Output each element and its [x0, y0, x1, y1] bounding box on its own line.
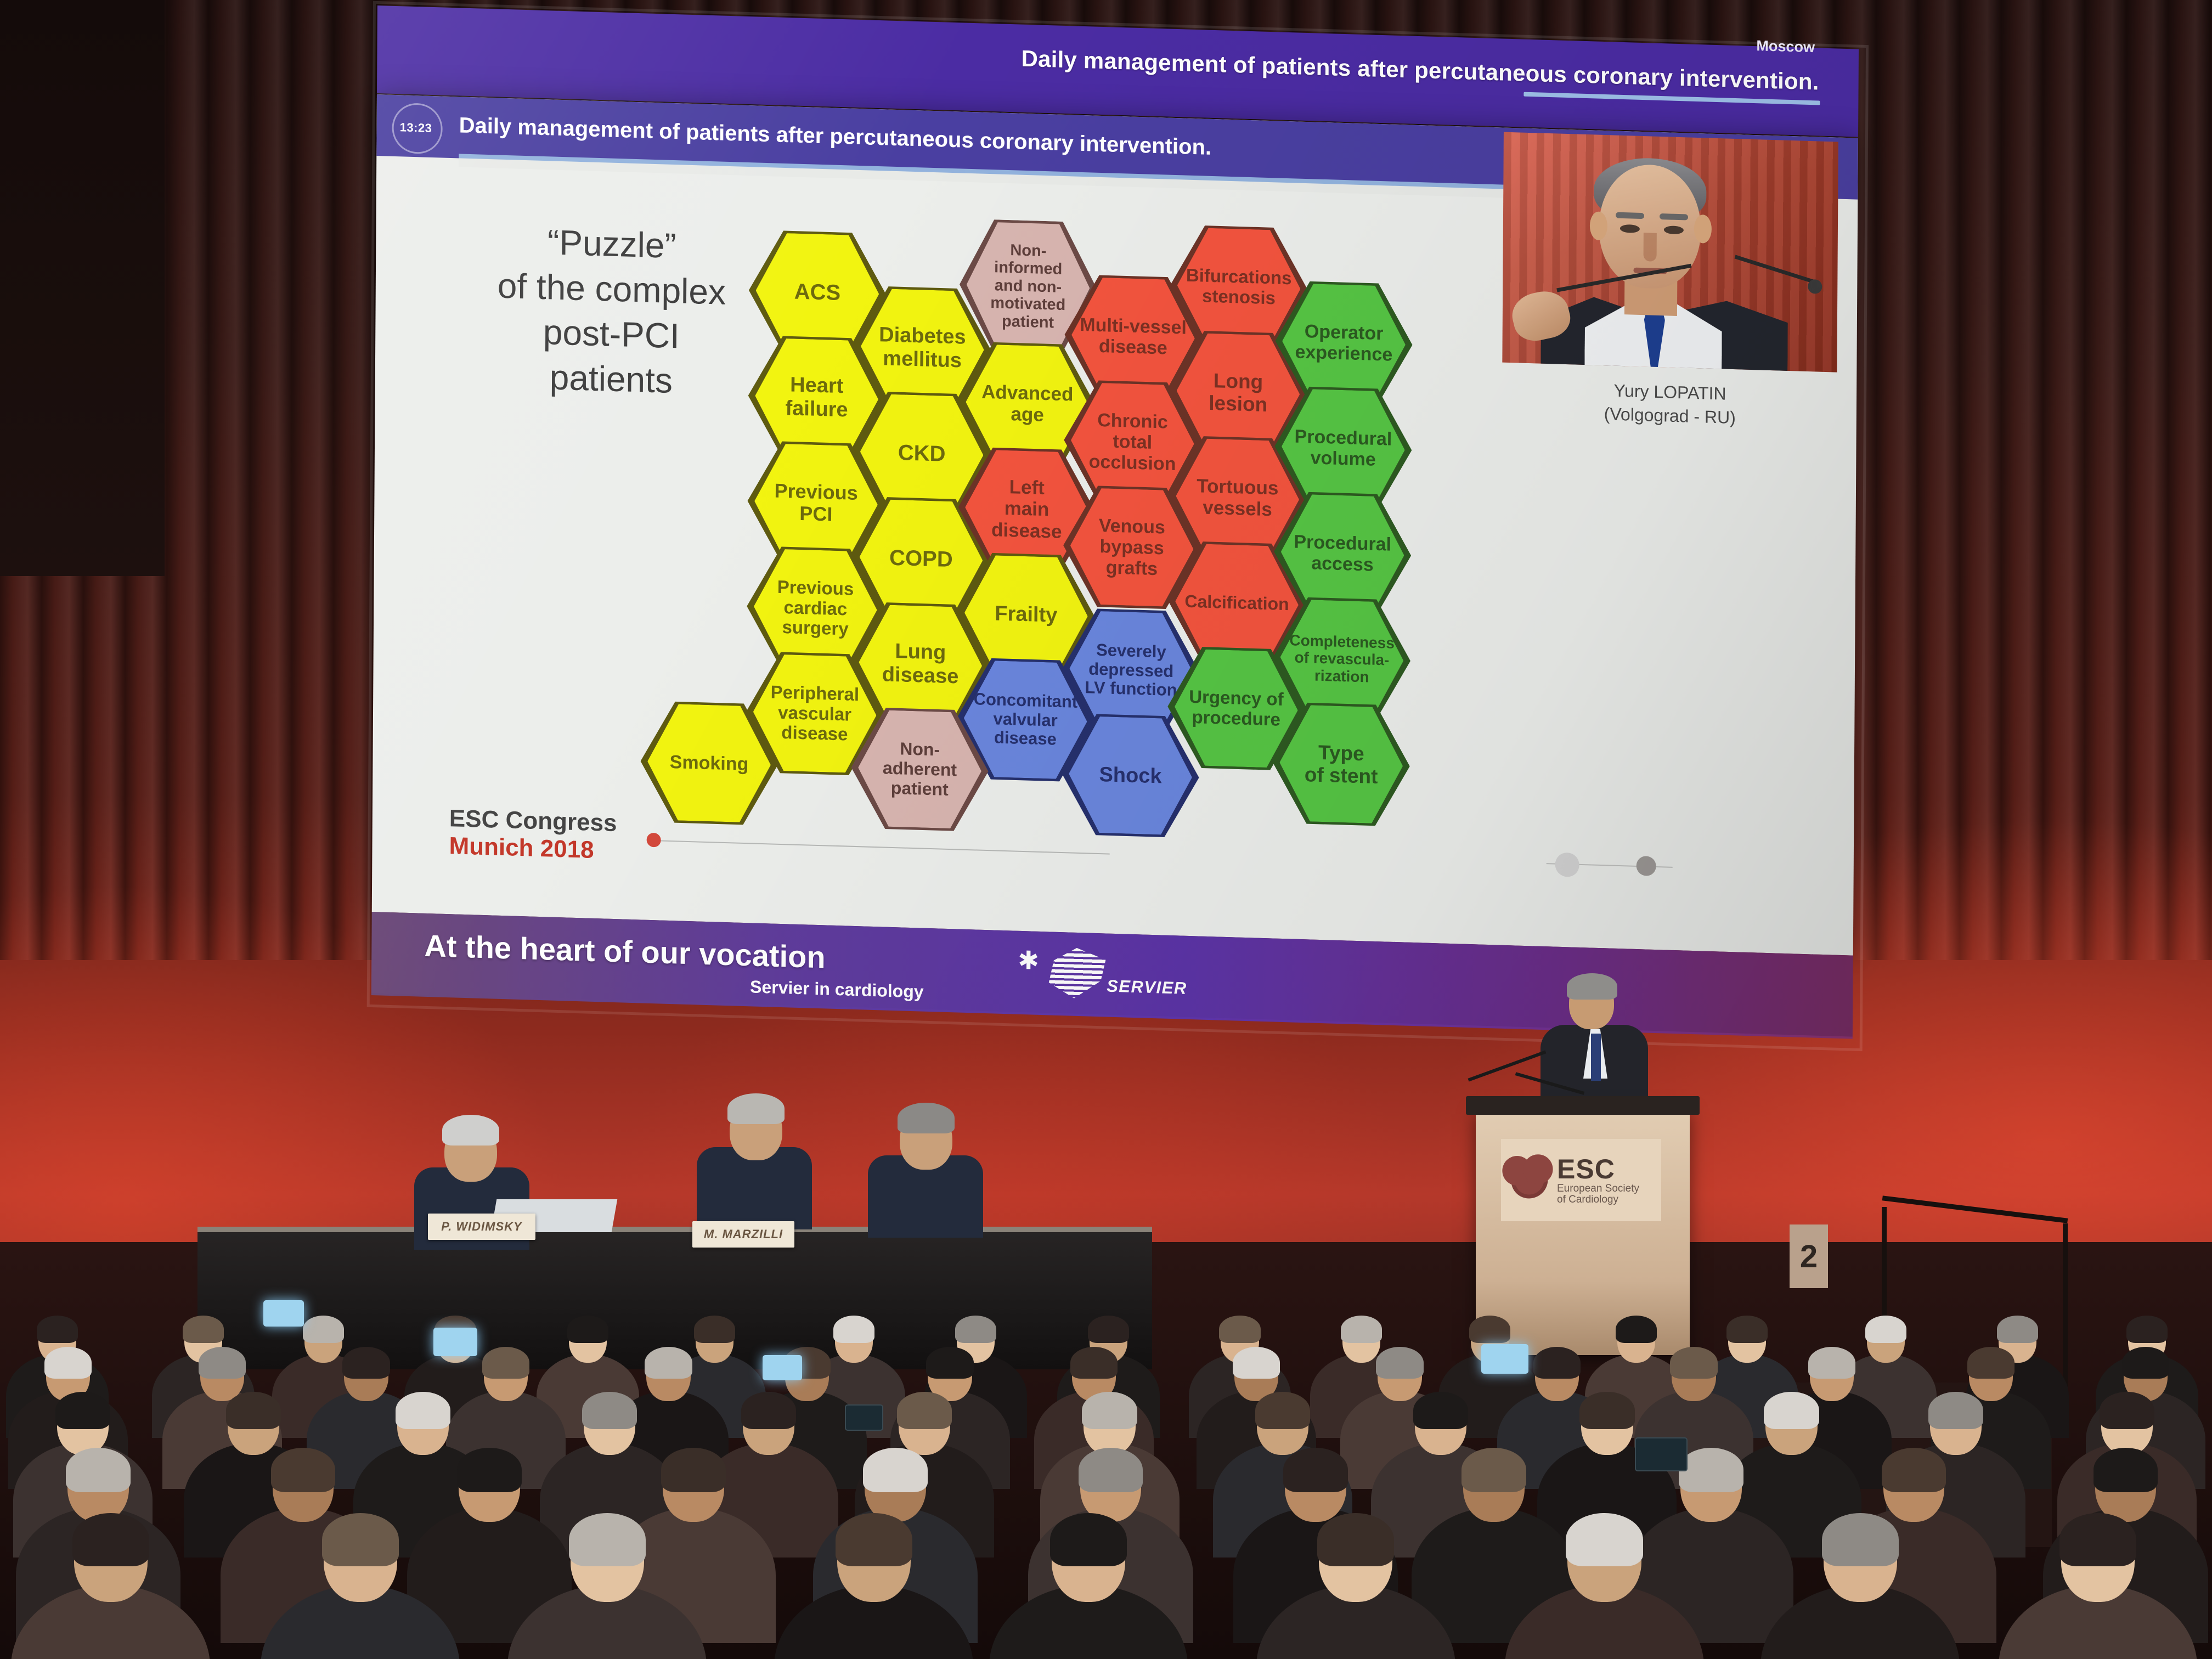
audience-phone-screen [763, 1355, 802, 1380]
puzzle-line-2: of the complex [458, 262, 766, 316]
audience-hair [66, 1448, 130, 1492]
hex-label: Chronic total occlusion [1089, 409, 1176, 475]
audience-phone-screen [1635, 1437, 1688, 1471]
hex-label: Previous PCI [774, 479, 858, 526]
audience-hair [1413, 1392, 1468, 1429]
hex-label: CKD [898, 441, 946, 466]
audience-phone-screen [263, 1300, 304, 1327]
audience-hair [226, 1392, 281, 1429]
audience-hair [1088, 1316, 1129, 1343]
sponsor-tagline: At the heart of our vocation [424, 928, 826, 975]
hex-label: Multi-vessel disease [1080, 314, 1187, 359]
hex-label: Operator experience [1295, 320, 1392, 365]
hex-label: Type of stent [1305, 741, 1378, 788]
audience-hair [1865, 1316, 1906, 1343]
audience-hair [1616, 1316, 1657, 1343]
hex-label: Shock [1099, 763, 1161, 788]
audience-hair [1808, 1347, 1856, 1379]
hex-label: Calcification [1184, 592, 1289, 614]
podium-top-edge [1466, 1096, 1700, 1115]
nameplate-marzilli-text: M. MARZILLI [704, 1227, 783, 1242]
hex-label: Peripheral vascular disease [770, 682, 859, 746]
hex-label: Completeness of revascula- rization [1289, 631, 1395, 686]
audience-hair [582, 1392, 637, 1429]
projection-screen: Moscow Daily management of patients afte… [371, 5, 1859, 1037]
audience-hair [1070, 1347, 1118, 1379]
audience-hair [836, 1513, 912, 1566]
audience-hair [271, 1448, 335, 1492]
speaker-caption: Yury LOPATIN (Volgograd - RU) [1527, 376, 1813, 432]
audience-hair [1928, 1392, 1983, 1429]
audience-hair [2059, 1513, 2136, 1566]
hex-label: Heart failure [785, 374, 848, 422]
nameplate-widimsky-text: P. WIDIMSKY [441, 1220, 522, 1234]
audience-hair [833, 1316, 874, 1343]
audience-hair [661, 1448, 725, 1492]
audience-hair [72, 1513, 149, 1566]
audience-hair [1533, 1347, 1581, 1379]
slide-title: Daily management of patients after percu… [459, 113, 1212, 160]
bay-number-text: 2 [1800, 1238, 1818, 1275]
banner-city-label: Moscow [1756, 37, 1815, 56]
audience-hair [897, 1392, 952, 1429]
sponsor-subline: Servier in cardiology [750, 977, 924, 1002]
audience-hair [1822, 1513, 1899, 1566]
audience-hair [1566, 1513, 1643, 1566]
audience-hair [1579, 1392, 1634, 1429]
audience-hair [396, 1392, 450, 1429]
hex-label: Non- adherent patient [883, 739, 957, 800]
servier-leaf-icon [1045, 947, 1106, 999]
audience-hair [1376, 1347, 1424, 1379]
audience-hair [1317, 1513, 1394, 1566]
congress-name: ESC Congress [449, 805, 617, 837]
servier-wordmark: SERVIER [1107, 977, 1187, 998]
hex-label: ACS [794, 279, 841, 305]
audience-hair [1233, 1347, 1280, 1379]
hex-label: Venous bypass grafts [1098, 515, 1165, 580]
audience-hair [303, 1316, 344, 1343]
audience [0, 1297, 2212, 1659]
audience-hair [44, 1347, 92, 1379]
audience-hair [37, 1316, 78, 1343]
audience-hair [55, 1392, 110, 1429]
audience-hair [569, 1513, 646, 1566]
audience-hair [199, 1347, 246, 1379]
esc-congress-footer: ESC Congress Munich 2018 [449, 805, 617, 865]
hex-label: Smoking [670, 752, 749, 775]
audience-hair [1082, 1392, 1137, 1429]
audience-hair [1679, 1448, 1743, 1492]
audience-hair [567, 1316, 608, 1343]
hex-label: Left main disease [991, 476, 1062, 542]
hex-label: Diabetes mellitus [879, 324, 966, 373]
congress-location-year: Munich 2018 [449, 832, 617, 864]
audience-hair [2100, 1392, 2154, 1429]
footer-grey-dot-2 [1637, 856, 1656, 876]
hex-label: COPD [889, 545, 953, 572]
audience-hair [1469, 1316, 1510, 1343]
audience-hair [482, 1347, 530, 1379]
audience-hair [1726, 1316, 1768, 1343]
audience-hair [2122, 1347, 2170, 1379]
hex-label: Procedural volume [1294, 426, 1392, 470]
nameplate-marzilli: M. MARZILLI [692, 1221, 794, 1248]
audience-hair [2093, 1448, 2158, 1492]
audience-phone-screen [433, 1328, 477, 1356]
esc-podium-logo: ESC European Society of Cardiology [1501, 1139, 1661, 1221]
audience-hair [1050, 1513, 1127, 1566]
audience-hair [322, 1513, 399, 1566]
hex-label: Long lesion [1209, 369, 1267, 416]
audience-hair [1341, 1316, 1382, 1343]
audience-hair [955, 1316, 996, 1343]
hex-label: Procedural access [1294, 531, 1391, 575]
audience-hair [2126, 1316, 2168, 1343]
presentation-slide: 13:23 Daily management of patients after… [372, 94, 1858, 956]
audience-hair [645, 1347, 692, 1379]
esc-logo-sub-2: of Cardiology [1557, 1194, 1639, 1205]
hex-label: Previous cardiac surgery [777, 577, 854, 640]
banner-session-title: Daily management of patients after percu… [1021, 46, 1819, 95]
audience-hair [1967, 1347, 2015, 1379]
hex-label: Urgency of procedure [1189, 687, 1284, 730]
hex-label: Bifurcations stenosis [1186, 266, 1292, 309]
servier-star-icon: ✱ [1018, 947, 1043, 973]
hex-label: Lung disease [882, 640, 959, 689]
wall-left-dark [0, 0, 165, 576]
audience-hair [1997, 1316, 2038, 1343]
servier-logo: ✱ SERVIER [1008, 943, 1173, 1008]
puzzle-heading: “Puzzle” of the complex post-PCI patient… [458, 217, 766, 406]
speaker-inset-photo [1502, 132, 1838, 373]
hex-label: Concomitant valvular disease [973, 690, 1077, 750]
slide-clock: 13:23 [400, 120, 432, 136]
hex-label: Severely depressed LV function [1085, 640, 1177, 700]
audience-hair [1219, 1316, 1260, 1343]
audience-hair [1882, 1448, 1946, 1492]
audience-hair [1079, 1448, 1143, 1492]
audience-hair [1670, 1347, 1718, 1379]
puzzle-line-4: patients [458, 352, 765, 406]
audience-hair [741, 1392, 796, 1429]
hex-label: Non- informed and non- motivated patient [990, 241, 1066, 332]
audience-hair [457, 1448, 521, 1492]
bay-number-sign: 2 [1790, 1224, 1828, 1288]
audience-hair [1462, 1448, 1526, 1492]
hex-label: Advanced age [981, 381, 1074, 426]
audience-hair [694, 1316, 735, 1343]
footer-connector-line [660, 840, 1110, 854]
conference-photo-scene: Moscow Daily management of patients afte… [0, 0, 2212, 1659]
audience-hair [183, 1316, 224, 1343]
footer-red-dot [647, 833, 661, 848]
hex-label: Frailty [995, 602, 1057, 627]
banner-rule [1523, 92, 1820, 105]
hex-label: Tortuous vessels [1197, 475, 1279, 521]
audience-hair [926, 1347, 974, 1379]
audience-hair [863, 1448, 927, 1492]
esc-logo-title: ESC [1557, 1155, 1639, 1184]
audience-phone-screen [1481, 1344, 1528, 1374]
audience-hair [1283, 1448, 1347, 1492]
footer-grey-dot-1 [1555, 853, 1579, 877]
esc-heart-icon [1504, 1154, 1556, 1206]
audience-hair [1764, 1392, 1819, 1429]
audience-hair [1255, 1392, 1310, 1429]
nameplate-widimsky: P. WIDIMSKY [428, 1214, 535, 1240]
audience-phone-screen [845, 1404, 883, 1431]
esc-logo-sub-1: European Society [1557, 1183, 1639, 1194]
audience-hair [342, 1347, 390, 1379]
